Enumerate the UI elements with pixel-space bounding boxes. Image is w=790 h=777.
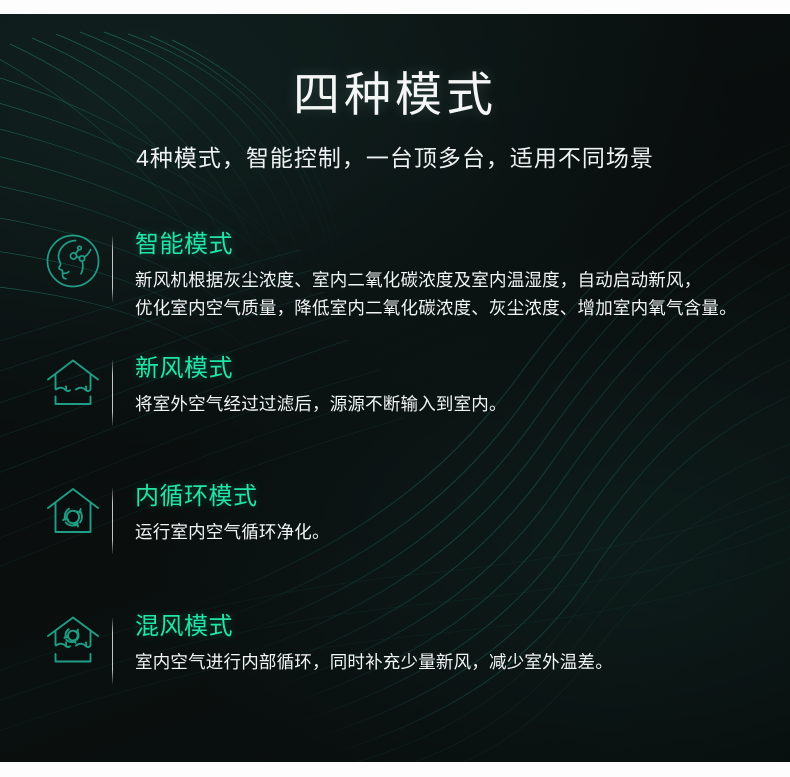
- feature-item-fresh-air-mode: 新风模式 将室外空气经过过滤后，源源不断输入到室内。: [0, 338, 790, 466]
- bottom-white-strip: [0, 762, 790, 777]
- feature-description: 室内空气进行内部循环，同时补充少量新风，减少室外温差。: [135, 648, 780, 676]
- feature-description: 运行室内空气循环净化。: [135, 518, 780, 546]
- feature-divider: [112, 360, 113, 426]
- house-mixed-air-icon: [34, 596, 112, 668]
- feature-divider: [112, 236, 113, 302]
- feature-item-internal-circulation-mode: 内循环模式 运行室内空气循环净化。: [0, 466, 790, 596]
- house-recirculate-icon: [34, 466, 112, 538]
- page-subtitle: 4种模式，智能控制，一台顶多台，适用不同场景: [0, 121, 790, 173]
- feature-title: 新风模式: [135, 354, 780, 384]
- feature-divider: [112, 488, 113, 554]
- dark-stage: 四种模式 4种模式，智能控制，一台顶多台，适用不同场景: [0, 14, 790, 762]
- feature-title: 智能模式: [135, 230, 780, 260]
- smart-head-circle-icon: [34, 214, 112, 290]
- feature-text: 内循环模式 运行室内空气循环净化。: [135, 466, 780, 546]
- house-airflow-icon: [34, 338, 112, 410]
- feature-divider: [112, 618, 113, 684]
- feature-item-mixed-air-mode: 混风模式 室内空气进行内部循环，同时补充少量新风，减少室外温差。: [0, 596, 790, 716]
- feature-title: 混风模式: [135, 612, 780, 642]
- feature-list: 智能模式 新风机根据灰尘浓度、室内二氧化碳浓度及室内温湿度，自动启动新风， 优化…: [0, 214, 790, 716]
- feature-description: 将室外空气经过过滤后，源源不断输入到室内。: [135, 390, 780, 418]
- feature-title: 内循环模式: [135, 482, 780, 512]
- header: 四种模式 4种模式，智能控制，一台顶多台，适用不同场景: [0, 14, 790, 173]
- feature-text: 新风模式 将室外空气经过过滤后，源源不断输入到室内。: [135, 338, 780, 418]
- feature-description: 新风机根据灰尘浓度、室内二氧化碳浓度及室内温湿度，自动启动新风， 优化室内空气质…: [135, 266, 780, 323]
- feature-text: 智能模式 新风机根据灰尘浓度、室内二氧化碳浓度及室内温湿度，自动启动新风， 优化…: [135, 214, 780, 323]
- promo-page: 四种模式 4种模式，智能控制，一台顶多台，适用不同场景: [0, 0, 790, 777]
- feature-text: 混风模式 室内空气进行内部循环，同时补充少量新风，减少室外温差。: [135, 596, 780, 676]
- feature-item-smart-mode: 智能模式 新风机根据灰尘浓度、室内二氧化碳浓度及室内温湿度，自动启动新风， 优化…: [0, 214, 790, 338]
- page-title: 四种模式: [0, 14, 790, 121]
- top-white-strip: [0, 0, 790, 14]
